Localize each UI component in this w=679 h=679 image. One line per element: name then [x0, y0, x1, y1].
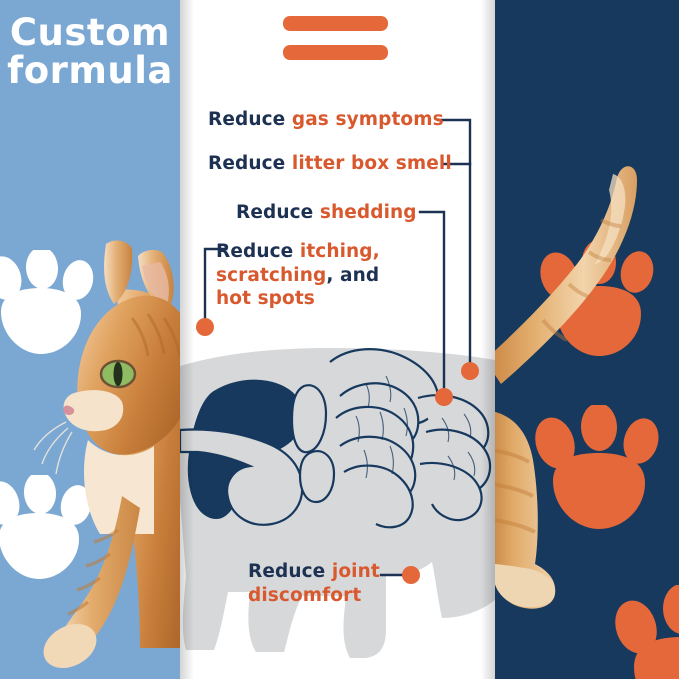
callout-joint-highlight: joint [332, 561, 380, 582]
callout-gas-symptoms: Reduce gas symptoms [208, 108, 444, 132]
callout-itching-scratching-hotspots: Reduce itching, scratching, and hot spot… [216, 240, 406, 311]
callout-dot-intestine-upper [461, 362, 479, 380]
callout-discomfort-highlight: discomfort [248, 585, 361, 606]
callout-scratching-suffix: , and [326, 265, 379, 286]
callout-itching-highlight: itching, [300, 241, 380, 262]
callout-dot-shoulder [196, 318, 214, 336]
callout-hotspots-highlight: hot spots [216, 288, 315, 309]
callout-joint-discomfort: Reduce joint discomfort [248, 560, 398, 607]
connector-shedding [420, 212, 444, 390]
callout-gas-highlight: gas symptoms [292, 109, 444, 130]
callout-dot-intestine-lower [435, 388, 453, 406]
callout-litter-prefix: Reduce [208, 153, 292, 174]
callout-dot-hind-joint [402, 566, 420, 584]
callout-joint-prefix: Reduce [248, 561, 332, 582]
callout-litter-highlight: litter box smell [292, 153, 452, 174]
callout-scratching-highlight: scratching [216, 265, 326, 286]
infographic-canvas: Custom formula [0, 0, 679, 679]
callout-shedding: Reduce shedding [236, 201, 417, 225]
callout-shedding-highlight: shedding [320, 202, 417, 223]
callout-itching-prefix: Reduce [216, 241, 300, 262]
callout-litter-box-smell: Reduce litter box smell [208, 152, 452, 176]
callout-shedding-prefix: Reduce [236, 202, 320, 223]
callout-gas-prefix: Reduce [208, 109, 292, 130]
